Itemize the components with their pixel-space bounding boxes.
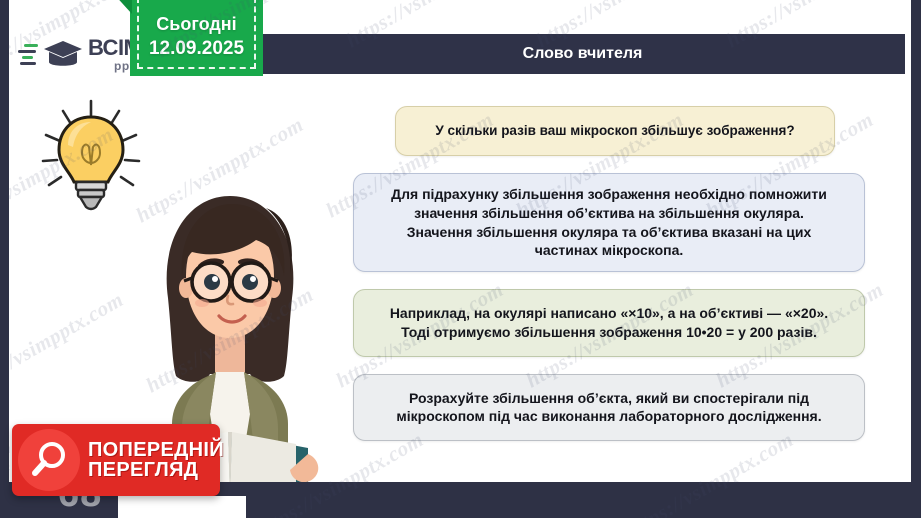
example-line-1: Наприклад, на окулярі написано «×10», а … (370, 304, 848, 323)
info-line-1: Для підрахунку збільшення зображення нео… (370, 185, 848, 204)
magnifier-icon (18, 429, 80, 491)
date-label: Сьогодні (156, 14, 236, 35)
date-value: 12.09.2025 (149, 38, 244, 60)
slide-title-bar: Слово вчителя (260, 34, 905, 74)
task-line-2: мікроскопом під час виконання лабораторн… (370, 407, 848, 426)
preview-badge-line-2: ПЕРЕГЛЯД (88, 460, 224, 480)
content-box-task: Розрахуйте збільшення об’єкта, який ви с… (353, 374, 865, 442)
graduation-cap-icon (42, 38, 84, 72)
watermark-text: https://vsimpptx.com (8, 287, 128, 403)
example-line-2: Тоді отримуємо збільшення зображення 10•… (370, 323, 848, 342)
page-title: Слово вчителя (523, 45, 643, 63)
info-line-3: Значення збільшення окуляра та об’єктива… (370, 223, 848, 242)
frame-right-edge (911, 0, 921, 518)
content-box-list: У скільки разів ваш мікроскоп збільшує з… (353, 106, 865, 441)
date-badge: Сьогодні 12.09.2025 (130, 0, 263, 76)
content-box-question: У скільки разів ваш мікроскоп збільшує з… (395, 106, 835, 156)
frame-left-edge (0, 0, 9, 518)
preview-badge-line-1: ПОПЕРЕДНІЙ (88, 440, 224, 460)
content-box-info: Для підрахунку збільшення зображення нео… (353, 173, 865, 272)
speed-lines-icon (18, 44, 38, 65)
question-line-1: У скільки разів ваш мікроскоп збільшує з… (412, 122, 818, 140)
preview-badge[interactable]: ПОПЕРЕДНІЙ ПЕРЕГЛЯД (12, 424, 220, 496)
content-box-example: Наприклад, на окулярі написано «×10», а … (353, 289, 865, 357)
task-line-1: Розрахуйте збільшення об’єкта, який ви с… (370, 389, 848, 408)
date-badge-fold (112, 0, 132, 14)
slide-viewer: У скільки разів ваш мікроскоп збільшує з… (0, 0, 921, 518)
info-line-2: значення збільшення об’єктива на збільше… (370, 204, 848, 223)
brand-logo[interactable]: ВСІМ pptx (8, 27, 136, 82)
bottom-white-tab (118, 496, 246, 518)
info-line-4: частинах мікроскопа. (370, 241, 848, 260)
